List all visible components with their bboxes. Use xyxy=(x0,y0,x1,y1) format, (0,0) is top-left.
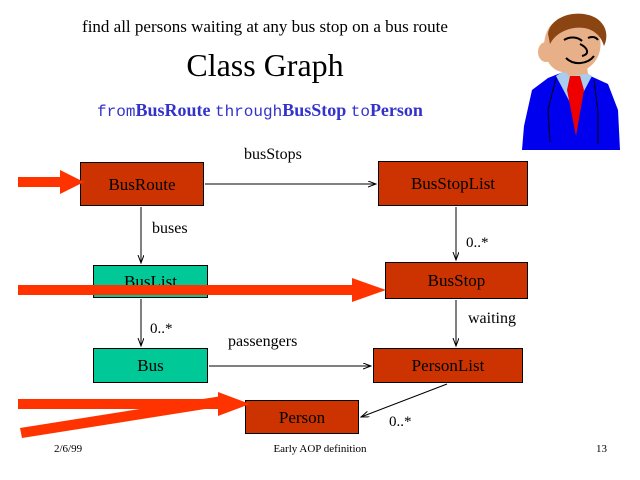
red-arrow-into-busroute xyxy=(18,170,84,194)
traversal-highlight-arrows xyxy=(0,0,640,480)
slide-canvas: find all persons waiting at any bus stop… xyxy=(0,0,640,480)
red-arrow-into-person xyxy=(18,392,250,438)
red-arrow-buslist-to-busstop xyxy=(18,278,386,302)
